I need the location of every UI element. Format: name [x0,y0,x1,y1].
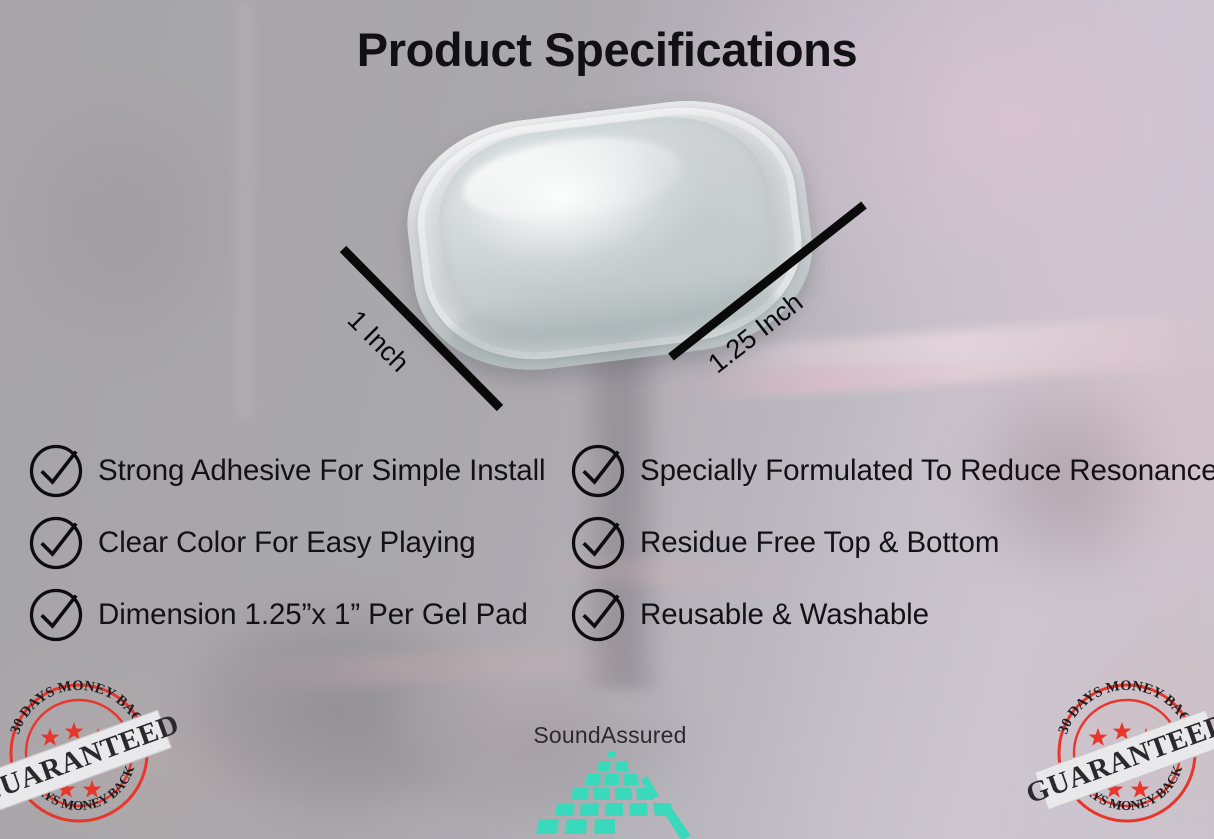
check-circle-icon [28,587,84,643]
feature-label: Reusable & Washable [640,600,929,630]
feature-item: Clear Color For Easy Playing [28,515,476,571]
feature-item: Residue Free Top & Bottom [570,515,999,571]
guarantee-stamp-left: 30 DAYS MONEY BACK 30 DAYS MONEY BACK GU… [0,668,164,838]
feature-label: Strong Adhesive For Simple Install [98,456,546,486]
check-circle-icon [570,515,626,571]
feature-item: Reusable & Washable [570,587,929,643]
check-circle-icon [28,515,84,571]
brand-name: SoundAssured [497,722,723,749]
product-specifications-banner: Product Specifications 1 Inch 1.25 Inch … [0,0,1214,839]
feature-label: Residue Free Top & Bottom [640,528,999,558]
dimension-lines [0,0,1214,839]
feature-label: Dimension 1.25”x 1” Per Gel Pad [98,600,528,630]
check-circle-icon [570,587,626,643]
check-circle-icon [28,443,84,499]
feature-item: Dimension 1.25”x 1” Per Gel Pad [28,587,528,643]
guarantee-stamp-right: 30 DAYS MONEY BACK 30 DAYS MONEY BACK GU… [1042,668,1212,838]
feature-label: Specially Formulated To Reduce Resonance [640,456,1214,486]
feature-item: Strong Adhesive For Simple Install [28,443,546,499]
feature-item: Specially Formulated To Reduce Resonance [570,443,1214,499]
feature-label: Clear Color For Easy Playing [98,528,476,558]
check-circle-icon [570,443,626,499]
feature-list: Strong Adhesive For Simple Install Clear… [0,437,1214,652]
brand-logo: SoundAssured [497,722,723,839]
teal-pyramid-dashes-icon [513,752,709,839]
